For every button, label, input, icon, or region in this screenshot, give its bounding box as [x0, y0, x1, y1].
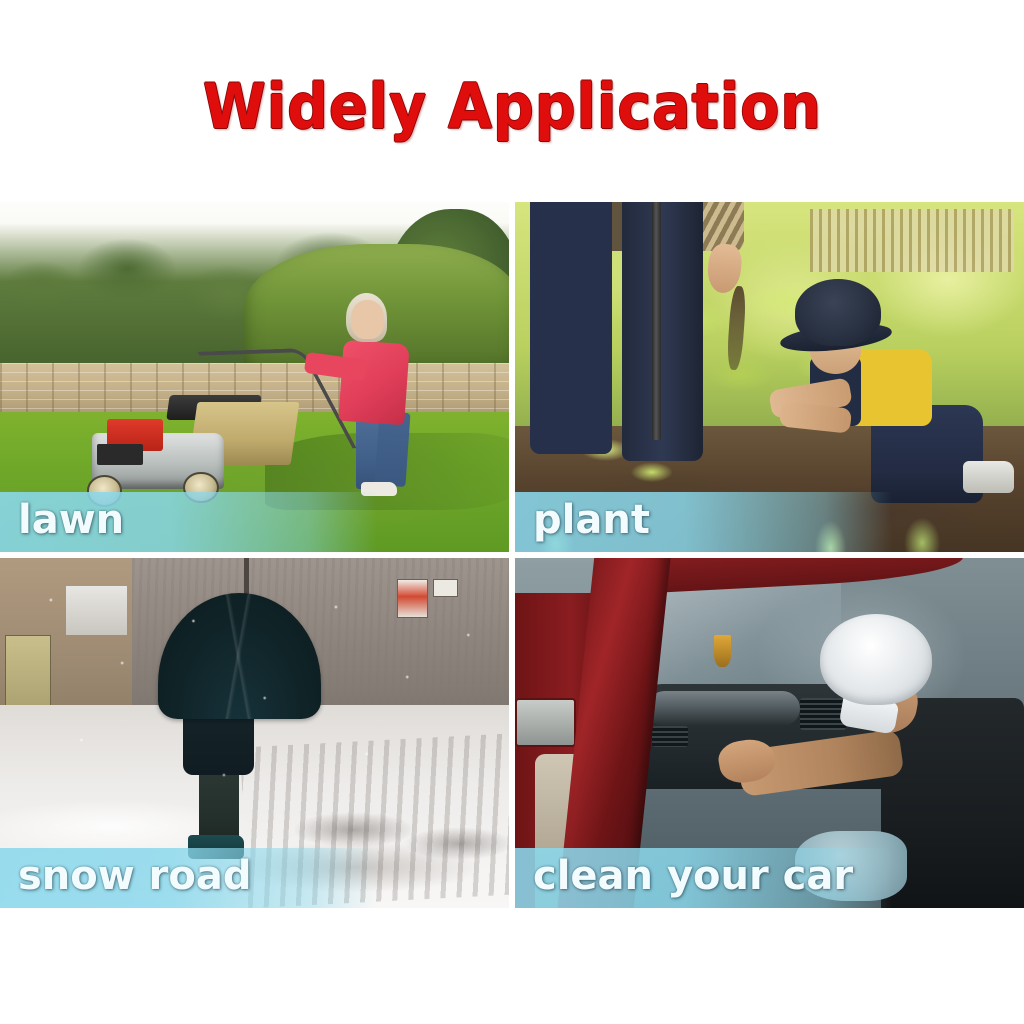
cleaning-cloth — [795, 831, 907, 901]
panel-clean-your-car: clean your car — [515, 558, 1024, 908]
page-title: Widely Application — [203, 70, 822, 143]
child-bucket-hat — [795, 279, 882, 346]
mower-wheel-rear — [183, 472, 219, 504]
hairnet — [820, 614, 932, 705]
foreground-grass — [515, 475, 1024, 552]
scene-plant — [515, 202, 1024, 552]
person-pink-top — [338, 340, 410, 425]
mower-engine-block — [97, 444, 143, 465]
garden-fence — [810, 209, 1014, 272]
mower-wheel-front — [87, 475, 123, 507]
scene-lawn — [0, 202, 509, 552]
panel-plant: plant — [515, 202, 1024, 552]
marketing-image: Widely Application — [0, 0, 1024, 1024]
dashboard-highlight — [647, 691, 800, 726]
title-area: Widely Application — [0, 0, 1024, 200]
falling-snow — [0, 558, 509, 908]
person-shoe — [361, 482, 397, 496]
scene-snow-road — [0, 558, 509, 908]
adult-leg-left — [530, 202, 611, 454]
air-vent-right — [800, 698, 846, 730]
air-vent-left — [652, 726, 688, 747]
air-freshener — [714, 635, 731, 667]
application-grid: lawn — [0, 202, 1024, 908]
panel-lawn: lawn — [0, 202, 509, 552]
panel-snow-road: snow road — [0, 558, 509, 908]
garden-tool-handle — [652, 202, 660, 440]
scene-clean-your-car — [515, 558, 1024, 908]
side-mirror — [515, 698, 576, 747]
adult-leg-right — [622, 202, 703, 461]
person-head — [351, 300, 384, 339]
